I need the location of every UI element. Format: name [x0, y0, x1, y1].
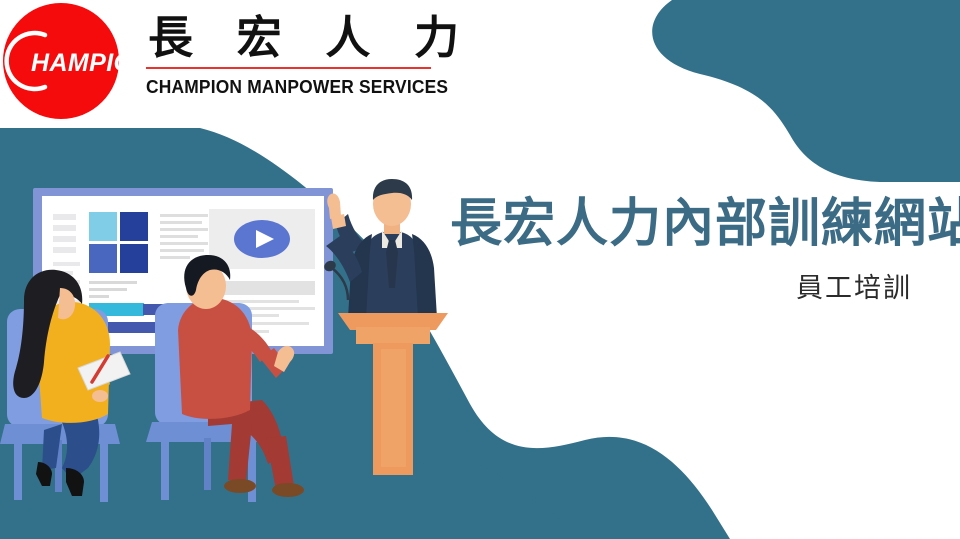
woman-chair-leg-2	[100, 440, 108, 502]
tile-dark-blue-2	[120, 244, 148, 273]
man-shoe-1	[224, 479, 256, 493]
brand-name-english: CHAMPION MANPOWER SERVICES	[146, 76, 428, 98]
woman-hand	[92, 390, 108, 402]
man-shin	[266, 436, 294, 490]
illustration-group	[0, 179, 448, 502]
podium-shelf	[356, 327, 430, 344]
man-chair-leg-3	[204, 438, 211, 490]
champion-logo-icon: HAMPION	[0, 0, 122, 122]
tile-dark-blue-1	[120, 212, 148, 241]
logo-wordmark: HAMPION	[31, 49, 122, 77]
podium-column-inner	[381, 349, 406, 467]
tile-mid-blue	[89, 244, 117, 273]
brand-text-block: 長 宏 人 力 CHAMPION MANPOWER SERVICES	[146, 0, 446, 98]
man-shoe-2	[272, 483, 304, 497]
man-chair-leg-1	[161, 438, 169, 500]
screen-video-panel	[209, 209, 315, 269]
brand-name-chinese: 長 宏 人 力	[148, 14, 446, 61]
tile-light-blue	[89, 212, 117, 241]
man-shirt	[178, 298, 252, 419]
brand-divider-rule	[146, 67, 431, 69]
banner-root: HAMPION 長 宏 人 力 CHAMPION MANPOWER SERVIC…	[0, 0, 960, 539]
brand-logo-block: HAMPION 長 宏 人 力 CHAMPION MANPOWER SERVIC…	[0, 0, 450, 122]
page-subtitle: 員工培訓	[440, 266, 912, 305]
page-title: 長宏人力內部訓練網站	[450, 196, 950, 252]
woman-chair-leg-1	[14, 440, 22, 500]
title-block: 長宏人力內部訓練網站 員工培訓	[440, 196, 950, 305]
speaker-at-podium	[322, 179, 448, 475]
champion-circle-logo: HAMPION	[0, 0, 122, 122]
